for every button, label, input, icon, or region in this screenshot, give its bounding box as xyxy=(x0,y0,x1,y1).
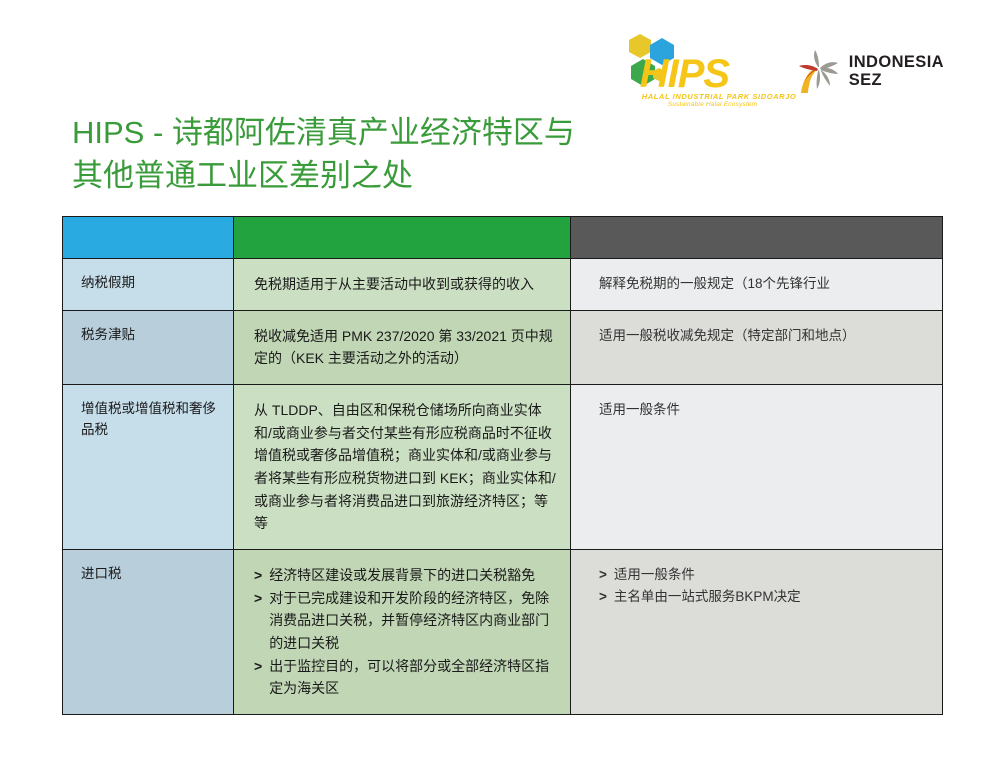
sez-bullet-list: >经济特区建设或发展背景下的进口关税豁免>对于已完成建设和开发阶段的经济特区，免… xyxy=(254,564,558,700)
table-cell-category: 增值税或增值税和奢侈品税 xyxy=(63,385,234,550)
bullet-marker-icon: > xyxy=(254,564,262,587)
list-item: >对于已完成建设和开发阶段的经济特区，免除消费品进口关税，并暂停经济特区内商业部… xyxy=(254,587,558,655)
list-item: >出于监控目的，可以将部分或全部经济特区指定为海关区 xyxy=(254,655,558,700)
bullet-marker-icon: > xyxy=(599,564,607,586)
bullet-text: 经济特区建设或发展背景下的进口关税豁免 xyxy=(269,564,558,587)
general-bullet-list: >适用一般条件>主名单由一站式服务BKPM决定 xyxy=(599,564,930,608)
table-cell-sez: 免税期适用于从主要活动中收到或获得的收入 xyxy=(234,259,571,311)
table-header-cell-1 xyxy=(63,217,234,259)
hips-wordmark: HIPS xyxy=(640,54,729,94)
table-cell-general: >适用一般条件>主名单由一站式服务BKPM决定 xyxy=(571,550,943,715)
bullet-marker-icon: > xyxy=(254,655,262,700)
table-cell-category: 纳税假期 xyxy=(63,259,234,311)
table-cell-category: 进口税 xyxy=(63,550,234,715)
table-cell-general: 适用一般条件 xyxy=(571,385,943,550)
logo-bar: HIPS HALAL INDUSTRIAL PARK SIDOARJO Sust… xyxy=(622,32,944,110)
table-cell-sez: 从 TLDDP、自由区和保税仓储场所向商业实体和/或商业参与者交付某些有形应税商… xyxy=(234,385,571,550)
table-cell-category: 税务津贴 xyxy=(63,310,234,384)
hips-tagline-secondary: Sustainable Halal Ecosystem xyxy=(668,101,758,108)
hips-tagline-primary: HALAL INDUSTRIAL PARK SIDOARJO xyxy=(642,92,797,101)
hips-logo: HIPS HALAL INDUSTRIAL PARK SIDOARJO Sust… xyxy=(622,32,770,110)
table-header-row xyxy=(63,217,943,259)
sez-wordmark: INDONESIA SEZ xyxy=(849,53,944,90)
table-row: 税务津贴税收减免适用 PMK 237/2020 第 33/2021 页中规定的（… xyxy=(63,310,943,384)
table-cell-sez: >经济特区建设或发展背景下的进口关税豁免>对于已完成建设和开发阶段的经济特区，免… xyxy=(234,550,571,715)
table-cell-sez: 税收减免适用 PMK 237/2020 第 33/2021 页中规定的（KEK … xyxy=(234,310,571,384)
page-title-line-1: HIPS - 诗都阿佐清真产业经济特区与 xyxy=(72,115,575,150)
bullet-text: 适用一般条件 xyxy=(614,564,930,586)
bullet-marker-icon: > xyxy=(599,586,607,608)
table-row: 纳税假期免税期适用于从主要活动中收到或获得的收入解释免税期的一般规定（18个先锋… xyxy=(63,259,943,311)
table-header-cell-2 xyxy=(234,217,571,259)
page-title-line-2: 其他普通工业区差别之处 xyxy=(72,158,413,193)
sez-line-2: SEZ xyxy=(849,71,944,89)
table-row: 增值税或增值税和奢侈品税从 TLDDP、自由区和保税仓储场所向商业实体和/或商业… xyxy=(63,385,943,550)
list-item: >主名单由一站式服务BKPM决定 xyxy=(599,586,930,608)
table-cell-general: 解释免税期的一般规定（18个先锋行业 xyxy=(571,259,943,311)
table-row: 进口税>经济特区建设或发展背景下的进口关税豁免>对于已完成建设和开发阶段的经济特… xyxy=(63,550,943,715)
indonesia-sez-logo: INDONESIA SEZ xyxy=(796,48,944,94)
sez-line-1: INDONESIA xyxy=(849,53,944,71)
table-cell-general: 适用一般税收减免规定（特定部门和地点） xyxy=(571,310,943,384)
page-title: HIPS - 诗都阿佐清真产业经济特区与 其他普通工业区差别之处 xyxy=(72,112,712,198)
bullet-marker-icon: > xyxy=(254,587,262,655)
list-item: >适用一般条件 xyxy=(599,564,930,586)
comparison-table: 纳税假期免税期适用于从主要活动中收到或获得的收入解释免税期的一般规定（18个先锋… xyxy=(62,216,943,715)
sez-pinwheel-icon xyxy=(796,48,840,94)
table-header-cell-3 xyxy=(571,217,943,259)
bullet-text: 主名单由一站式服务BKPM决定 xyxy=(614,586,930,608)
list-item: >经济特区建设或发展背景下的进口关税豁免 xyxy=(254,564,558,587)
bullet-text: 对于已完成建设和开发阶段的经济特区，免除消费品进口关税，并暂停经济特区内商业部门… xyxy=(269,587,558,655)
slide: HIPS HALAL INDUSTRIAL PARK SIDOARJO Sust… xyxy=(0,0,992,762)
bullet-text: 出于监控目的，可以将部分或全部经济特区指定为海关区 xyxy=(269,655,558,700)
